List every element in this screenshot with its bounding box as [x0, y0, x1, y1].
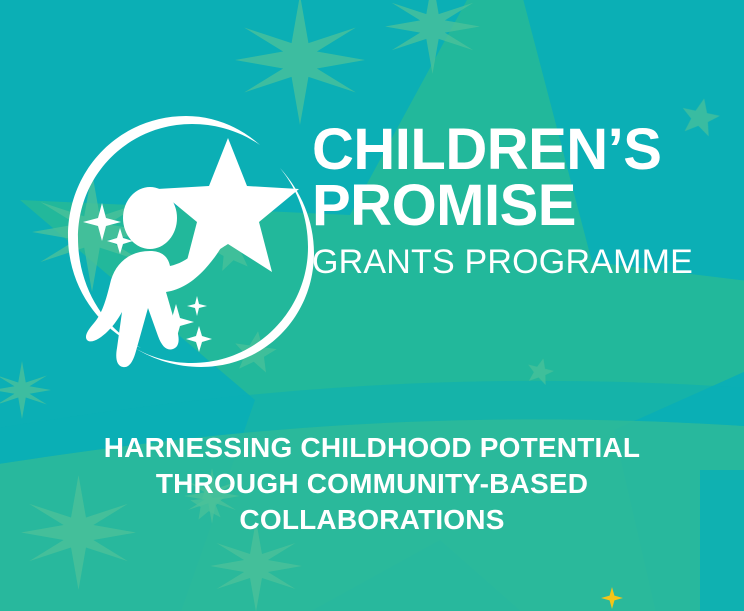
tagline: HARNESSING CHILDHOOD POTENTIAL THROUGH C… [52, 430, 692, 537]
tagline-line-3: COLLABORATIONS [52, 502, 692, 538]
logo-star-icon [157, 138, 299, 272]
tagline-line-1: HARNESSING CHILDHOOD POTENTIAL [52, 430, 692, 466]
wordmark-subtitle: GRANTS PROGRAMME [312, 245, 732, 279]
children-promise-logo-mark [58, 108, 314, 370]
tagline-line-2: THROUGH COMMUNITY-BASED [52, 466, 692, 502]
wordmark-line-2: PROMISE [312, 178, 732, 234]
logo-row: CHILDREN’S PROMISE GRANTS PROGRAMME [0, 108, 744, 373]
wordmark: CHILDREN’S PROMISE GRANTS PROGRAMME [312, 122, 732, 279]
wordmark-line-1: CHILDREN’S [312, 122, 732, 178]
children-promise-banner: CHILDREN’S PROMISE GRANTS PROGRAMME HARN… [0, 0, 744, 611]
